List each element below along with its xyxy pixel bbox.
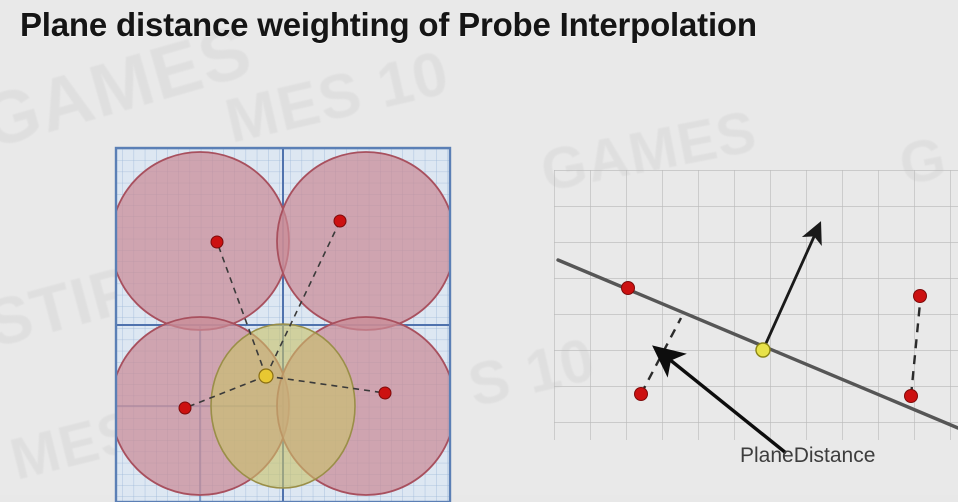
figure-plane-distance: PlaneDistance: [540, 160, 958, 490]
probe-circle-top-left: [111, 152, 289, 330]
probe-point-top-left[interactable]: [211, 236, 223, 248]
probe-point-lower-left[interactable]: [635, 388, 648, 401]
plane-distance-label: PlaneDistance: [740, 444, 875, 467]
interpolation-region: [211, 324, 355, 488]
page-title: Plane distance weighting of Probe Interp…: [20, 6, 757, 44]
probe-grid-canvas: [100, 138, 464, 502]
figure-probe-grid: [100, 138, 464, 502]
interpolation-sample-point[interactable]: [259, 369, 273, 383]
probe-point-top-right[interactable]: [334, 215, 346, 227]
probe-point-bottom-left[interactable]: [179, 402, 191, 414]
plane-grid: [554, 170, 958, 440]
probe-circle-top-right: [277, 152, 455, 330]
probe-point-upper-right[interactable]: [914, 290, 927, 303]
plane-distance-canvas: PlaneDistance: [540, 160, 958, 490]
probe-point-bottom-right[interactable]: [379, 387, 391, 399]
probe-point-on-plane[interactable]: [622, 282, 635, 295]
plane-sample-point[interactable]: [756, 343, 770, 357]
probe-point-lower-right[interactable]: [905, 390, 918, 403]
